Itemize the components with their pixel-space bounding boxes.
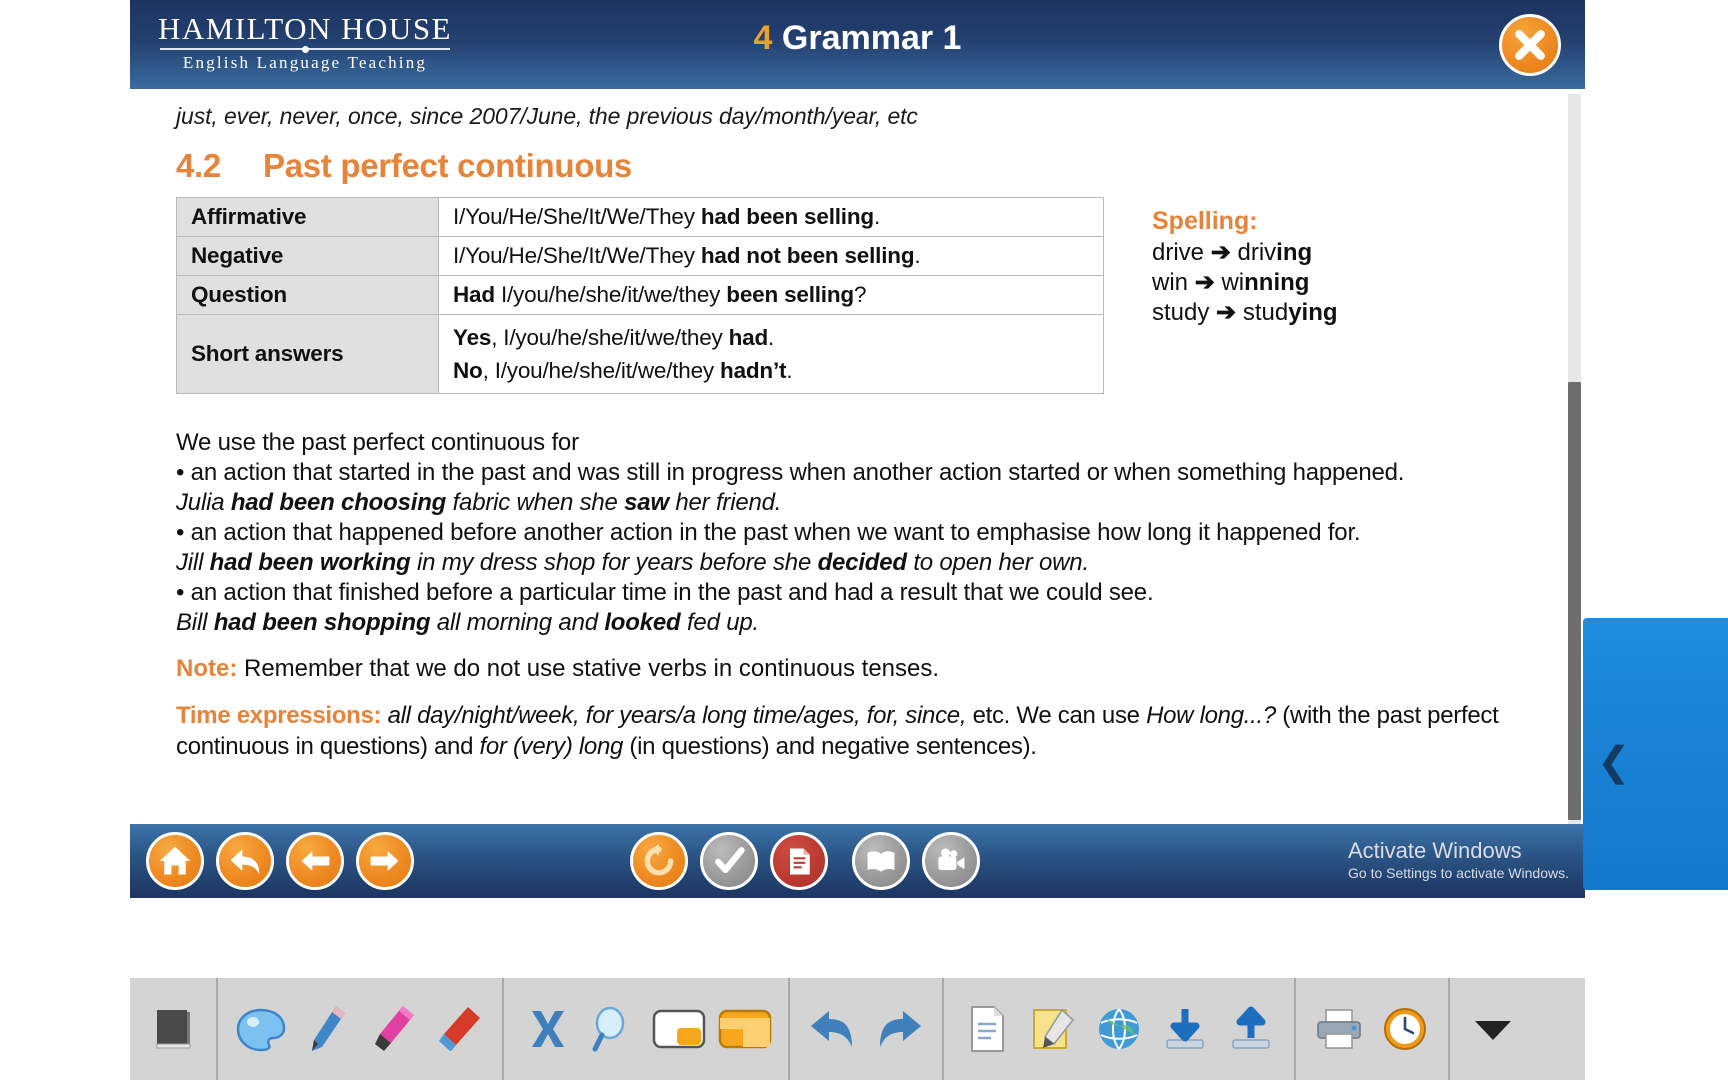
printer-icon: [1313, 1006, 1365, 1052]
download-arrow-icon: [1161, 1004, 1209, 1054]
side-panel-handle[interactable]: ❮: [1583, 618, 1728, 890]
document-icon: [773, 835, 825, 887]
page-title-text: Grammar 1: [782, 19, 962, 57]
redo-tool[interactable]: [866, 993, 932, 1065]
tool-palette: [130, 978, 1585, 1080]
spelling-suffix: nning: [1244, 269, 1309, 296]
spotlight-tool[interactable]: [646, 993, 712, 1065]
spelling-item: drive ➔ driving: [1152, 238, 1482, 268]
explanation-bullet-2: • an action that happened before another…: [176, 518, 1545, 548]
web-tool[interactable]: [1086, 993, 1152, 1065]
notes-page-icon: [965, 1004, 1009, 1054]
tool-section-history: [788, 978, 942, 1080]
palette-icon: [234, 1005, 288, 1053]
row-label: Question: [177, 276, 439, 315]
tool-section-board: [130, 978, 216, 1080]
x-delete-icon: [523, 1005, 571, 1053]
undo-tool[interactable]: [800, 993, 866, 1065]
undo-arrow-icon: [219, 835, 271, 887]
yes-verb: had: [729, 325, 768, 350]
curtain-icon: [717, 1006, 773, 1052]
table-row: Negative I/You/He/She/It/We/They had not…: [177, 237, 1104, 276]
upload-tool[interactable]: [1218, 993, 1284, 1065]
row-label: Affirmative: [177, 198, 439, 237]
explanation-bullet-1: • an action that started in the past and…: [176, 458, 1545, 488]
watermark-title: Activate Windows: [1348, 838, 1569, 864]
left-gutter: [0, 0, 130, 1080]
eraser-icon: [435, 1003, 483, 1055]
spelling-box: Spelling: drive ➔ driving win ➔ winning …: [1152, 197, 1482, 328]
spelling-base: win: [1152, 269, 1188, 296]
download-tool[interactable]: [1152, 993, 1218, 1065]
section-title-text: Past perfect continuous: [263, 147, 632, 184]
spotlight-icon: [651, 1006, 707, 1052]
reset-button[interactable]: [630, 832, 688, 890]
check-answers-button[interactable]: [700, 832, 758, 890]
explanation-block: We use the past perfect continuous for •…: [176, 428, 1545, 638]
blackboard-icon: [151, 1006, 195, 1052]
pencil-tool[interactable]: [294, 993, 360, 1065]
ex3-verb-1: had been shopping: [214, 609, 431, 636]
row-value: I/You/He/She/It/We/They had not been sel…: [439, 237, 1104, 276]
tool-section-view: [502, 978, 788, 1080]
ex3-part-a: Bill: [176, 609, 214, 636]
watermark-subtitle: Go to Settings to activate Windows.: [1348, 864, 1569, 882]
lesson-page: just, ever, never, once, since 2007/June…: [130, 89, 1585, 824]
row-text-end: ?: [854, 282, 866, 307]
close-icon: [1502, 17, 1558, 73]
row-text-bold-lead: Had: [453, 282, 495, 307]
spelling-stem: driv: [1237, 239, 1276, 266]
clock-icon: [1381, 1005, 1429, 1053]
globe-icon: [1095, 1005, 1143, 1053]
ex2-part-a: Jill: [176, 549, 210, 576]
arrow-left-icon: [289, 835, 341, 887]
time-expr-howlong: How long...?: [1146, 702, 1276, 729]
explanation-bullet-3: • an action that finished before a parti…: [176, 578, 1545, 608]
spelling-suffix: ying: [1288, 299, 1337, 326]
home-button[interactable]: [146, 832, 204, 890]
magnifier-icon: [589, 1004, 637, 1054]
refresh-icon: [633, 835, 685, 887]
forms-table: Affirmative I/You/He/She/It/We/They had …: [176, 197, 1104, 394]
notes-tool[interactable]: [954, 993, 1020, 1065]
tool-section-output: [1294, 978, 1448, 1080]
scrollbar-thumb[interactable]: [1568, 382, 1581, 820]
section-number: 4.2: [176, 147, 221, 184]
no-plain: , I/you/he/she/it/we/they: [483, 358, 720, 383]
no-bold: No: [453, 358, 483, 383]
close-button[interactable]: [1499, 14, 1561, 76]
ex2-part-c: in my dress shop for years before she: [411, 549, 818, 576]
time-expressions-label: Time expressions:: [176, 702, 381, 729]
note-label: Note:: [176, 655, 237, 682]
redo-icon: [873, 1005, 925, 1053]
ex3-verb-2: looked: [604, 609, 680, 636]
home-icon: [149, 835, 201, 887]
time-expr-forlong: for (very) long: [480, 733, 624, 760]
ex1-part-c: fabric when she: [446, 489, 624, 516]
highlighter-tool[interactable]: [360, 993, 426, 1065]
row-text-bold: had been selling: [701, 204, 874, 229]
time-expressions-block: Time expressions: all day/night/week, fo…: [176, 700, 1545, 762]
time-expr-end: (in questions) and negative sentences).: [623, 733, 1037, 760]
next-page-button[interactable]: [356, 832, 414, 890]
arrow-right-icon: ➔: [1211, 239, 1231, 266]
highlighter-icon: [369, 1003, 417, 1055]
arrow-right-icon: ➔: [1216, 299, 1236, 326]
yes-end: .: [768, 325, 774, 350]
ex1-verb-1: had been choosing: [231, 489, 446, 516]
spelling-title: Spelling:: [1152, 207, 1482, 236]
row-text-plain: I/you/he/she/it/we/they: [495, 282, 726, 307]
yes-plain: , I/you/he/she/it/we/they: [491, 325, 728, 350]
spelling-base: drive: [1152, 239, 1204, 266]
previous-page-button[interactable]: [286, 832, 344, 890]
tool-section-content: [942, 978, 1294, 1080]
ex2-part-e: to open her own.: [907, 549, 1089, 576]
undo-icon: [807, 1005, 859, 1053]
time-expr-mid: etc. We can use: [966, 702, 1146, 729]
dictionary-button[interactable]: [852, 832, 910, 890]
spelling-suffix: ing: [1276, 239, 1312, 266]
upload-arrow-icon: [1227, 1004, 1275, 1054]
document-scrollbar[interactable]: [1568, 94, 1581, 824]
chevron-down-icon: [1469, 1014, 1517, 1044]
table-row: Question Had I/you/he/she/it/we/they bee…: [177, 276, 1104, 315]
page-title-number: 4: [754, 19, 773, 57]
screen: HAMILTON HOUSE English Language Teaching…: [0, 0, 1728, 1080]
row-text-bold: had not been selling: [701, 243, 915, 268]
zoom-tool[interactable]: [580, 993, 646, 1065]
example-sentence-2: Jill had been working in my dress shop f…: [176, 548, 1545, 578]
ex1-part-e: her friend.: [669, 489, 781, 516]
blackboard-tool[interactable]: [140, 993, 206, 1065]
row-text-end: .: [914, 243, 920, 268]
timer-tool[interactable]: [1372, 993, 1438, 1065]
row-label: Short answers: [177, 315, 439, 394]
nav-group-resources: [852, 832, 980, 890]
row-value: I/You/He/She/It/We/They had been selling…: [439, 198, 1104, 237]
chevron-left-icon: ❮: [1597, 742, 1631, 782]
spelling-item: study ➔ studying: [1152, 298, 1482, 328]
ex1-verb-2: saw: [624, 489, 669, 516]
no-verb: hadn’t: [720, 358, 786, 383]
spelling-stem: stud: [1243, 299, 1288, 326]
curtain-tool[interactable]: [712, 993, 778, 1065]
table-row: Short answers Yes, I/you/he/she/it/we/th…: [177, 315, 1104, 394]
windows-activation-watermark: Activate Windows Go to Settings to activ…: [1348, 838, 1569, 882]
row-value: Had I/you/he/she/it/we/they been selling…: [439, 276, 1104, 315]
sticky-note-tool[interactable]: [1020, 993, 1086, 1065]
arrow-right-icon: ➔: [1195, 269, 1215, 296]
ex3-part-e: fed up.: [681, 609, 759, 636]
grammar-row: Affirmative I/You/He/She/It/We/They had …: [176, 197, 1545, 394]
no-end: .: [786, 358, 792, 383]
pencil-icon: [305, 1003, 349, 1055]
delete-tool[interactable]: [514, 993, 580, 1065]
page-title: 4 Grammar 1: [130, 19, 1585, 58]
row-text-plain: I/You/He/She/It/We/They: [453, 243, 701, 268]
nav-group-actions: [630, 832, 828, 890]
time-expr-list: all day/night/week, for years/a long tim…: [381, 702, 966, 729]
video-camera-icon: [925, 835, 977, 887]
example-sentence-3: Bill had been shopping all morning and l…: [176, 608, 1545, 638]
arrow-right-icon: [359, 835, 411, 887]
row-label: Negative: [177, 237, 439, 276]
yes-bold: Yes: [453, 325, 491, 350]
print-tool[interactable]: [1306, 993, 1372, 1065]
courseware-window: HAMILTON HOUSE English Language Teaching…: [130, 0, 1585, 978]
spelling-base: study: [1152, 299, 1209, 326]
show-answers-button[interactable]: [770, 832, 828, 890]
row-text-plain: I/You/He/She/It/We/They: [453, 204, 701, 229]
table-row: Affirmative I/You/He/She/It/We/They had …: [177, 198, 1104, 237]
row-value: Yes, I/you/he/she/it/we/they had. No, I/…: [439, 315, 1104, 394]
back-button[interactable]: [216, 832, 274, 890]
short-answer-yes: Yes, I/you/he/she/it/we/they had.: [453, 321, 1089, 354]
short-answer-no: No, I/you/he/she/it/we/they hadn’t.: [453, 354, 1089, 387]
section-heading: 4.2Past perfect continuous: [176, 147, 1545, 185]
palette-tool[interactable]: [228, 993, 294, 1065]
eraser-tool[interactable]: [426, 993, 492, 1065]
time-words-line: just, ever, never, once, since 2007/June…: [176, 103, 1545, 130]
row-text-end: .: [874, 204, 880, 229]
ex2-verb-1: had been working: [210, 549, 411, 576]
ex1-part-a: Julia: [176, 489, 231, 516]
tool-section-more: [1448, 978, 1536, 1080]
row-text-bold: been selling: [726, 282, 854, 307]
tool-section-draw: [216, 978, 502, 1080]
video-button[interactable]: [922, 832, 980, 890]
spelling-stem: wi: [1221, 269, 1244, 296]
checkmark-icon: [703, 835, 755, 887]
ex3-part-c: all morning and: [430, 609, 604, 636]
sticky-note-icon: [1029, 1004, 1077, 1054]
example-sentence-1: Julia had been choosing fabric when she …: [176, 488, 1545, 518]
more-tools[interactable]: [1460, 993, 1526, 1065]
spelling-item: win ➔ winning: [1152, 268, 1482, 298]
ex2-verb-2: decided: [818, 549, 907, 576]
nav-group-primary: [146, 832, 414, 890]
open-book-icon: [855, 835, 907, 887]
explanation-intro: We use the past perfect continuous for: [176, 428, 1545, 458]
app-header: HAMILTON HOUSE English Language Teaching…: [130, 0, 1585, 89]
navigation-toolbar: Activate Windows Go to Settings to activ…: [130, 824, 1585, 898]
note-text: Remember that we do not use stative verb…: [237, 655, 939, 682]
note-block: Note: Remember that we do not use stativ…: [176, 654, 1545, 684]
